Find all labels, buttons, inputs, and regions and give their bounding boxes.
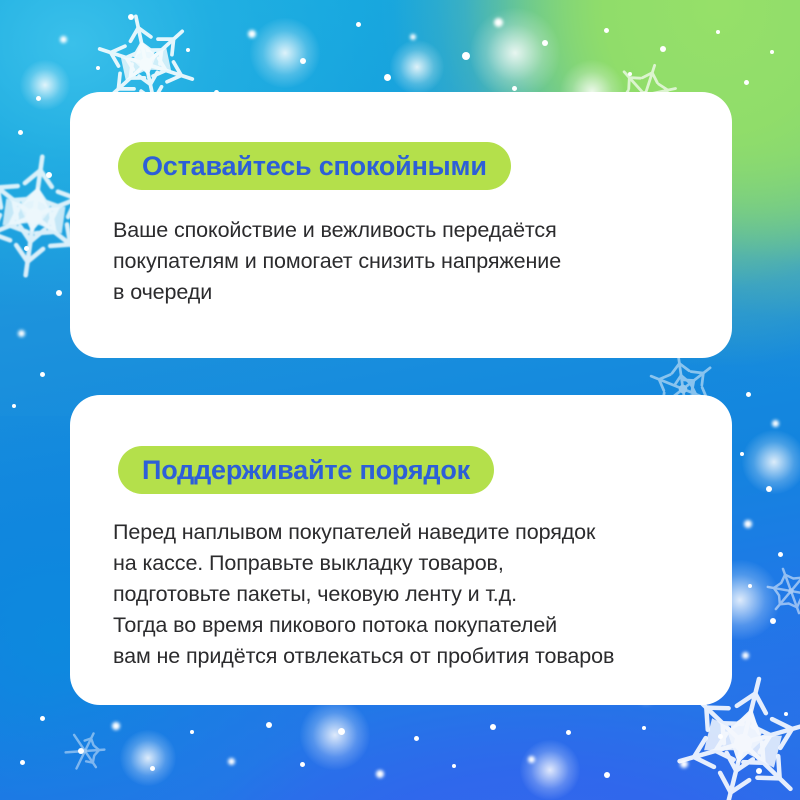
poster-canvas: Оставайтесь спокойными Ваше спокойствие … [0,0,800,800]
tip-body-calm: Ваше спокойствие и вежливость передаётся… [113,215,693,308]
tip-body-order: Перед наплывом покупателей наведите поря… [113,517,713,672]
tip-heading-order: Поддерживайте порядок [118,446,494,494]
tip-heading-calm: Оставайтесь спокойными [118,142,511,190]
tip-card-calm: Оставайтесь спокойными Ваше спокойствие … [70,92,732,358]
tip-card-order: Поддерживайте порядок Перед наплывом пок… [70,395,732,705]
